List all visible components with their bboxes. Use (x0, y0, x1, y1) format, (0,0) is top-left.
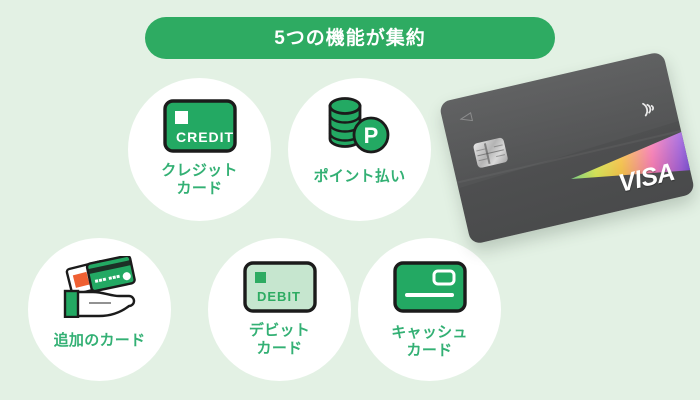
credit-card-icon: CREDIT (162, 96, 238, 156)
feature-cash-card[interactable]: キャッシュ カード (358, 238, 501, 381)
hand-holding-cards-icon (55, 256, 145, 318)
contactless-icon (639, 96, 661, 121)
card-corner-mark-icon (459, 112, 474, 125)
promo-graphic: 5つの機能が集約 CREDIT クレジット カード (0, 0, 700, 400)
feature-label-extra: 追加のカード (54, 332, 146, 350)
cash-card-icon (392, 258, 468, 316)
header-banner: 5つの機能が集約 (145, 17, 555, 59)
feature-label-credit: クレジット カード (161, 162, 238, 199)
coin-stack-glyph: P (322, 94, 398, 156)
svg-text:P: P (363, 123, 378, 148)
debit-card-glyph: DEBIT (242, 260, 318, 314)
feature-label-point: ポイント払い (314, 168, 406, 186)
emv-chip-icon (473, 137, 509, 168)
feature-label-cash: キャッシュ カード (391, 324, 468, 361)
svg-text:CREDIT: CREDIT (176, 129, 234, 145)
hand-cards-glyph (55, 256, 145, 318)
feature-debit-card[interactable]: DEBIT デビット カード (208, 238, 351, 381)
banner-title: 5つの機能が集約 (274, 29, 426, 48)
feature-point-payment[interactable]: P ポイント払い (288, 78, 431, 221)
cash-card-glyph (392, 260, 468, 314)
debit-card-icon: DEBIT (242, 258, 318, 316)
visa-card: VISA (439, 51, 696, 245)
credit-card-glyph: CREDIT (162, 98, 238, 154)
svg-text:DEBIT: DEBIT (257, 289, 301, 304)
feature-credit-card[interactable]: CREDIT クレジット カード (128, 78, 271, 221)
feature-label-debit: デビット カード (249, 322, 310, 359)
coin-stack-point-icon: P (322, 94, 398, 156)
feature-additional-card[interactable]: 追加のカード (28, 238, 171, 381)
